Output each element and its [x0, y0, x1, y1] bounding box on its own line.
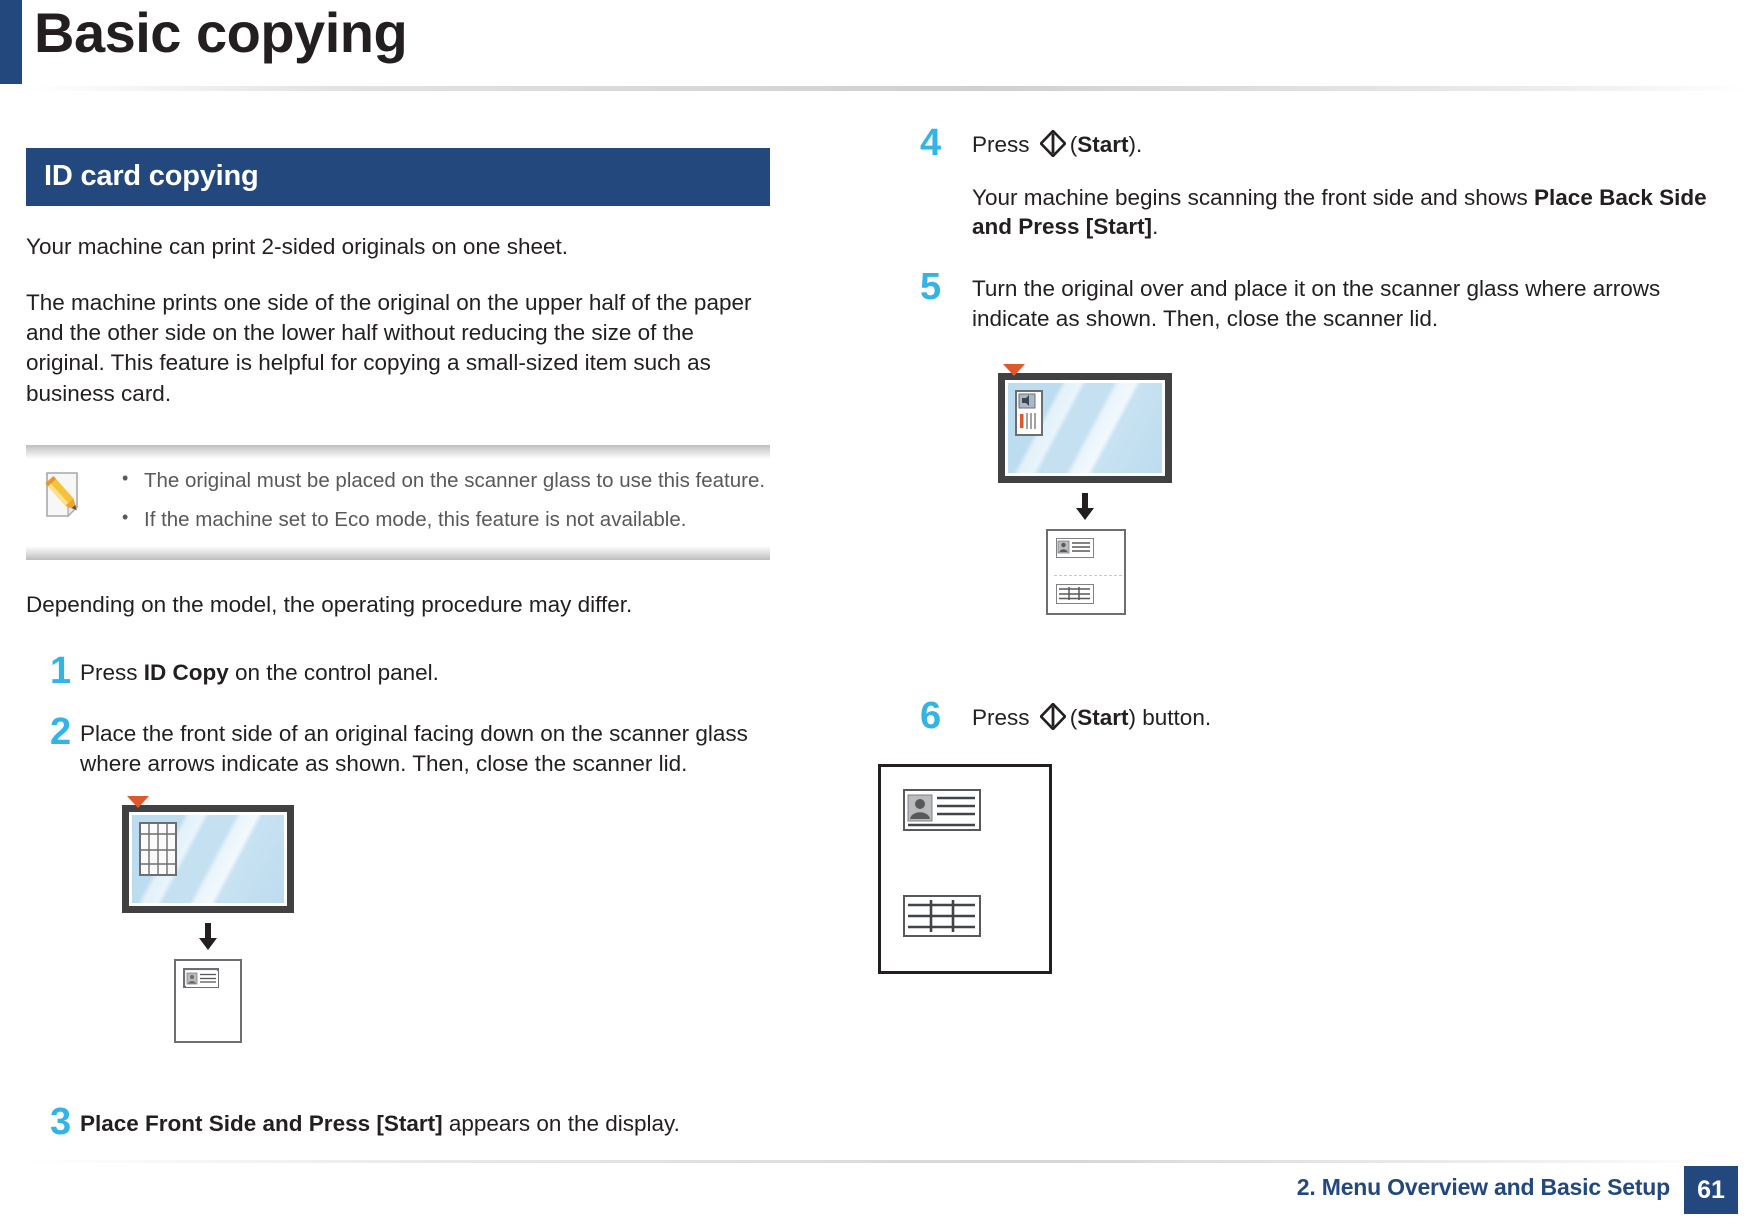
step-text: Place Front Side and Press [Start] appea… [80, 1105, 770, 1140]
intro-paragraph-1: Your machine can print 2-sided originals… [26, 232, 770, 262]
model-note-paragraph: Depending on the model, the operating pr… [26, 590, 770, 620]
step-text-pre: Press [972, 705, 1036, 730]
step-subtext-pre: Your machine begins scanning the front s… [972, 185, 1534, 210]
output-sheet-front [174, 959, 242, 1043]
corner-marker-icon [127, 796, 149, 808]
step-subtext-post: . [1152, 214, 1158, 239]
step-text: Press (Start) button. [972, 699, 1720, 738]
note-item: The original must be placed on the scann… [114, 467, 770, 495]
note-bottom-divider [26, 546, 770, 560]
id-card-face-down [139, 822, 177, 876]
step-text-post: on the control panel. [229, 660, 439, 685]
figure-final-output [878, 764, 1720, 974]
note-body: The original must be placed on the scann… [26, 459, 770, 546]
step-text-bold: Place Front Side and Press [Start] [80, 1111, 443, 1136]
left-column: ID card copying Your machine can print 2… [26, 148, 770, 1139]
note-top-divider [26, 445, 770, 459]
step-text-pre: Press [80, 660, 144, 685]
step-text-paren-close: ). [1129, 132, 1143, 157]
page-title: Basic copying [34, 4, 407, 63]
footer-divider [26, 1160, 1722, 1163]
right-column: 4 Press (Start). Your machine begins sca… [920, 126, 1720, 974]
step-text-bold: ID Copy [144, 660, 229, 685]
header-divider [30, 86, 1748, 91]
printed-id-card-back [1056, 584, 1094, 604]
step-text: Press ID Copy on the control panel. [80, 654, 770, 689]
step-text-post: appears on the display. [443, 1111, 680, 1136]
step-5: 5 Turn the original over and place it on… [920, 270, 1720, 333]
arrow-down-icon [197, 923, 219, 951]
footer-page-number: 61 [1684, 1166, 1738, 1214]
footer-chapter-label: 2. Menu Overview and Basic Setup [1297, 1174, 1670, 1201]
step-number: 5 [920, 270, 972, 333]
step-3: 3 Place Front Side and Press [Start] app… [26, 1105, 770, 1140]
fold-line [1054, 575, 1122, 576]
step-text: Turn the original over and place it on t… [972, 270, 1720, 333]
step-4: 4 Press (Start). Your machine begins sca… [920, 126, 1720, 242]
intro-paragraph-2: The machine prints one side of the origi… [26, 288, 770, 409]
note-list: The original must be placed on the scann… [92, 467, 770, 536]
step-1: 1 Press ID Copy on the control panel. [26, 654, 770, 689]
scanner-glass-front [122, 805, 294, 913]
figure-place-back-side [998, 373, 1720, 615]
step-number: 6 [920, 699, 972, 738]
step-2: 2 Place the front side of an original fa… [26, 715, 770, 778]
section-banner: ID card copying [26, 148, 770, 206]
printed-id-card-front [903, 789, 981, 831]
step-text-pre: Press [972, 132, 1036, 157]
note-pencil-icon [26, 467, 92, 524]
step-text: Place the front side of an original faci… [80, 715, 770, 778]
step-subtext: Your machine begins scanning the front s… [972, 183, 1720, 242]
step-number: 1 [26, 654, 80, 689]
step-number: 3 [26, 1105, 80, 1140]
step-text-paren-close: ) button. [1129, 705, 1212, 730]
step-text-bold: Start [1077, 132, 1128, 157]
printed-id-card-front [1056, 538, 1094, 558]
arrow-down-icon [1074, 493, 1096, 521]
step-number: 4 [920, 126, 972, 242]
header-accent-bar [0, 0, 22, 84]
start-icon [1040, 703, 1066, 738]
start-icon [1040, 130, 1066, 165]
printed-id-card-front [183, 968, 219, 988]
step-text: Press (Start). Your machine begins scann… [972, 126, 1720, 242]
page-footer: 2. Menu Overview and Basic Setup 61 [0, 1160, 1748, 1226]
page-header: Basic copying [0, 0, 1748, 96]
figure-place-front-side [122, 805, 770, 1043]
step-text-bold: Start [1077, 705, 1128, 730]
output-sheet-two-sided [1046, 529, 1126, 615]
step-6: 6 Press (Start) button. [920, 699, 1720, 738]
printed-id-card-back [903, 895, 981, 937]
scanner-glass-back [998, 373, 1172, 483]
output-sheet-final [878, 764, 1052, 974]
note-item: If the machine set to Eco mode, this fea… [114, 506, 770, 534]
corner-marker-icon [1003, 364, 1025, 376]
id-card-back-side [1015, 390, 1043, 436]
step-number: 2 [26, 715, 80, 778]
note-box: The original must be placed on the scann… [26, 445, 770, 560]
